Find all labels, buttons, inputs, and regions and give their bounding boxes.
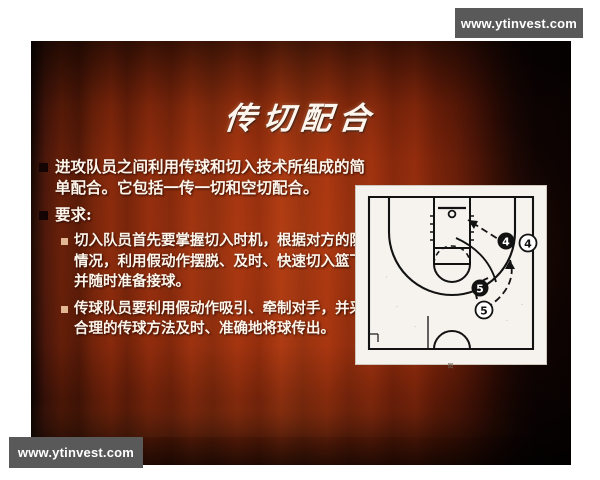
slide-body: 进攻队员之间利用传球和切入技术所组成的简单配合。它包括一传一切和空切配合。 要求… (39, 156, 379, 346)
sub-bullet-text: 切入队员首先要掌握切入时机，根据对方的防守情况，利用假动作摆脱、及时、快速切入篮… (74, 231, 379, 293)
sub-bullet-item-1: 切入队员首先要掌握切入时机，根据对方的防守情况，利用假动作摆脱、及时、快速切入篮… (61, 231, 379, 293)
svg-text:4: 4 (502, 236, 510, 249)
diagram-caption: 图 (356, 361, 546, 370)
small-square-bullet-icon (61, 238, 68, 245)
watermark-bottom: www.ytinvest.com (9, 437, 143, 468)
sub-bullet-text: 传球队员要利用假动作吸引、牵制对手，并采用合理的传球方法及时、准确地将球传出。 (74, 299, 379, 340)
bullet-item-2: 要求: (39, 204, 379, 225)
screenshot-root: 传切配合 进攻队员之间利用传球和切入技术所组成的简单配合。它包括一传一切和空切配… (0, 0, 600, 480)
svg-text:4: 4 (524, 238, 532, 251)
square-bullet-icon (39, 211, 48, 220)
slide-title: 传切配合 (31, 93, 571, 138)
sub-bullet-item-2: 传球队员要利用假动作吸引、牵制对手，并采用合理的传球方法及时、准确地将球传出。 (61, 299, 379, 340)
bullet-item-1: 进攻队员之间利用传球和切入技术所组成的简单配合。它包括一传一切和空切配合。 (39, 156, 379, 198)
square-bullet-icon (39, 163, 48, 172)
svg-text:5: 5 (476, 283, 484, 296)
bullet-text: 进攻队员之间利用传球和切入技术所组成的简单配合。它包括一传一切和空切配合。 (55, 156, 379, 198)
bullet-text: 要求: (55, 204, 92, 225)
watermark-top: www.ytinvest.com (455, 8, 583, 38)
presentation-slide: 传切配合 进攻队员之间利用传球和切入技术所组成的简单配合。它包括一传一切和空切配… (31, 41, 571, 465)
small-square-bullet-icon (61, 306, 68, 313)
basketball-court-diagram: 4 4 5 5 (356, 186, 546, 364)
svg-text:5: 5 (480, 305, 488, 318)
